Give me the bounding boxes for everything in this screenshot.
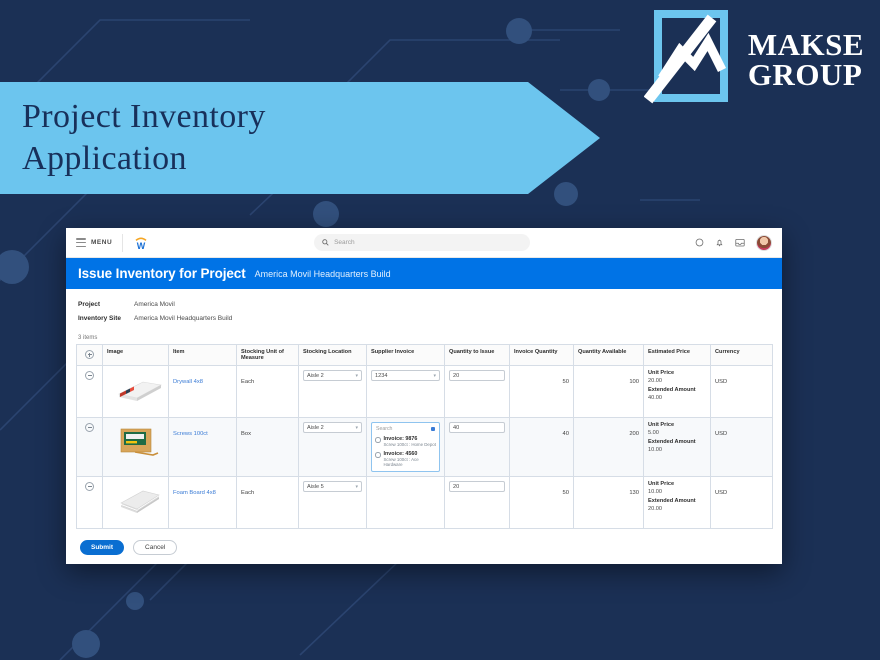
uom-value: Each (241, 379, 254, 385)
remove-row-icon[interactable] (85, 482, 94, 491)
stocking-location-select[interactable]: Aisle 5 ▾ (303, 481, 362, 492)
drywall-sheet-thumbnail (113, 372, 165, 406)
stocking-location-value: Aisle 2 (307, 425, 324, 431)
invoice-quantity-value: 50 (563, 379, 569, 385)
slide-title: Project Inventory Application (22, 96, 266, 180)
hamburger-menu-icon (76, 238, 86, 247)
extended-amount-label: Extended Amount (648, 498, 706, 504)
currency-value: USD (715, 431, 727, 437)
column-header-currency: Currency (711, 345, 773, 366)
column-header-item: Item (169, 345, 237, 366)
dropdown-option-description: Screw 100ct : Home Depot (384, 442, 436, 447)
dropdown-option[interactable]: Invoice: 4560 Screw 100ct : Ace Hardware (374, 449, 437, 469)
supplier-invoice-value: 1234 (375, 373, 387, 379)
cancel-button[interactable]: Cancel (133, 540, 177, 555)
cell-stocking-location: Aisle 2 ▾ (299, 366, 367, 418)
title-banner: Project Inventory Application (0, 82, 600, 194)
quantity-to-issue-input[interactable]: 40 (449, 422, 505, 433)
cell-stocking-location: Aisle 2 ▾ (299, 418, 367, 477)
search-placeholder: Search (334, 239, 355, 246)
workday-logo-icon[interactable]: W (133, 235, 149, 251)
unit-price-label: Unit Price (648, 481, 706, 487)
uom-value: Each (241, 490, 254, 496)
column-header-quantity-to-issue: Quantity to Issue (445, 345, 510, 366)
cell-estimated-price: Unit Price 10.00 Extended Amount 20.00 (644, 477, 711, 529)
row-remove-cell (77, 477, 103, 529)
notifications-bell-icon[interactable] (715, 238, 724, 247)
column-header-image: Image (103, 345, 169, 366)
item-link[interactable]: Foam Board 4x8 (173, 490, 216, 496)
page-title: Issue Inventory for Project (78, 266, 246, 281)
row-remove-cell (77, 418, 103, 477)
currency-value: USD (715, 490, 727, 496)
cell-invoice-quantity: 50 (510, 477, 574, 529)
field-label-project: Project (78, 301, 134, 308)
column-header-stocking-location: Stocking Location (299, 345, 367, 366)
cell-quantity-available: 200 (574, 418, 644, 477)
field-label-inventory-site: Inventory Site (78, 315, 134, 322)
logo-wordmark-line-2: GROUP (748, 60, 864, 90)
app-topbar: MENU W Search (66, 228, 782, 258)
cell-invoice-quantity: 50 (510, 366, 574, 418)
cell-uom: Box (237, 418, 299, 477)
cell-image (103, 418, 169, 477)
search-container: Search (149, 234, 695, 251)
supplier-invoice-dropdown[interactable]: Search Invoice: 9876 Screw 100ct : Home … (371, 422, 440, 472)
table-row: Screws 100ct Box Aisle 2 ▾ (77, 418, 773, 477)
foam-board-stack-thumbnail (113, 483, 165, 517)
cell-supplier-invoice[interactable] (367, 477, 445, 529)
logo-wordmark: MAKSE GROUP (748, 30, 864, 90)
cell-stocking-location: Aisle 5 ▾ (299, 477, 367, 529)
extended-amount-label: Extended Amount (648, 439, 706, 445)
search-input[interactable]: Search (314, 234, 530, 251)
radio-icon[interactable] (375, 437, 381, 443)
cell-quantity-available: 100 (574, 366, 644, 418)
extended-amount-value: 20.00 (648, 506, 706, 512)
topbar-icon-group (695, 235, 772, 251)
menu-button-label: MENU (91, 239, 112, 246)
dropdown-option[interactable]: Invoice: 9876 Screw 100ct : Home Depot (374, 434, 437, 449)
cell-item: Drywall 4x8 (169, 366, 237, 418)
quantity-to-issue-input[interactable]: 20 (449, 481, 505, 492)
slide-title-line-1: Project Inventory (22, 96, 266, 138)
currency-value: USD (715, 379, 727, 385)
page-subtitle: America Movil Headquarters Build (255, 269, 391, 279)
summary-fields: Project America Movil Inventory Site Ame… (66, 289, 782, 335)
unit-price-value: 20.00 (648, 378, 706, 384)
cell-uom: Each (237, 477, 299, 529)
cell-quantity-to-issue: 40 (445, 418, 510, 477)
item-link[interactable]: Drywall 4x8 (173, 379, 203, 385)
inbox-icon[interactable] (735, 238, 745, 247)
search-icon (322, 239, 329, 246)
stocking-location-select[interactable]: Aisle 2 ▾ (303, 422, 362, 433)
screws-box-thumbnail (113, 424, 165, 458)
cell-quantity-to-issue: 20 (445, 477, 510, 529)
field-value-project: America Movil (134, 301, 175, 308)
column-header-estimated-price: Estimated Price (644, 345, 711, 366)
add-row-icon[interactable] (85, 350, 94, 359)
quantity-to-issue-value: 20 (453, 484, 459, 490)
logo-wordmark-line-1: MAKSE (748, 30, 864, 60)
form-actions: Submit Cancel (66, 529, 782, 564)
table-row: Foam Board 4x8 Each Aisle 5 ▾ (77, 477, 773, 529)
page-header: Issue Inventory for Project America Movi… (66, 258, 782, 289)
chevron-down-icon: ▾ (355, 425, 358, 431)
quantity-to-issue-value: 20 (453, 373, 459, 379)
grid-header-row: Image Item Stocking Unit of Measure Stoc… (77, 345, 773, 366)
logo-chart-mark-icon (644, 8, 748, 108)
column-header-supplier-invoice: Supplier Invoice (367, 345, 445, 366)
remove-row-icon[interactable] (85, 371, 94, 380)
invoice-quantity-value: 50 (563, 490, 569, 496)
column-header-invoice-quantity: Invoice Quantity (510, 345, 574, 366)
chevron-down-icon: ▾ (355, 373, 358, 379)
chevron-down-icon: ▾ (355, 484, 358, 490)
supplier-invoice-select[interactable]: 1234 ▾ (371, 370, 440, 381)
unit-price-value: 5.00 (648, 430, 706, 436)
radio-icon[interactable] (375, 452, 381, 458)
remove-row-icon[interactable] (85, 423, 94, 432)
cell-uom: Each (237, 366, 299, 418)
field-value-inventory-site: America Movil Headquarters Build (134, 315, 232, 322)
cell-quantity-to-issue: 20 (445, 366, 510, 418)
cell-supplier-invoice: Search Invoice: 9876 Screw 100ct : Home … (367, 418, 445, 477)
extended-amount-label: Extended Amount (648, 387, 706, 393)
topbar-divider (122, 234, 123, 252)
slide-title-line-2: Application (22, 138, 266, 180)
unit-price-label: Unit Price (648, 370, 706, 376)
stocking-location-select[interactable]: Aisle 2 ▾ (303, 370, 362, 381)
quantity-available-value: 130 (629, 490, 639, 496)
cell-estimated-price: Unit Price 20.00 Extended Amount 40.00 (644, 366, 711, 418)
item-link[interactable]: Screws 100ct (173, 431, 208, 437)
dropdown-search-placeholder: Search (376, 426, 392, 432)
presentation-slide: Project Inventory Application MAKSE GROU… (0, 0, 880, 660)
quantity-available-value: 200 (629, 431, 639, 437)
column-header-quantity-available: Quantity Available (574, 345, 644, 366)
field-row-inventory-site: Inventory Site America Movil Headquarter… (78, 315, 770, 322)
cell-quantity-available: 130 (574, 477, 644, 529)
stocking-location-value: Aisle 5 (307, 484, 324, 490)
makse-group-logo: MAKSE GROUP (644, 6, 864, 110)
dropdown-option-description: Screw 100ct : Ace Hardware (384, 457, 437, 467)
cell-image (103, 366, 169, 418)
inventory-grid: Image Item Stocking Unit of Measure Stoc… (76, 344, 773, 529)
quantity-available-value: 100 (629, 379, 639, 385)
cell-item: Screws 100ct (169, 418, 237, 477)
stocking-location-value: Aisle 2 (307, 373, 324, 379)
svg-text:W: W (137, 241, 146, 251)
menu-button[interactable]: MENU (76, 238, 112, 247)
cell-currency: USD (711, 418, 773, 477)
inventory-grid-container: Image Item Stocking Unit of Measure Stoc… (66, 344, 782, 529)
quantity-to-issue-value: 40 (453, 425, 459, 431)
dropdown-toggle-icon (431, 427, 435, 431)
cell-currency: USD (711, 477, 773, 529)
profile-icon[interactable] (695, 238, 704, 247)
application-screenshot: MENU W Search (66, 228, 782, 564)
items-count-label: 3 items (66, 335, 782, 344)
uom-value: Box (241, 431, 251, 437)
field-row-project: Project America Movil (78, 301, 770, 308)
table-row: Drywall 4x8 Each Aisle 2 ▾ (77, 366, 773, 418)
quantity-to-issue-input[interactable]: 20 (449, 370, 505, 381)
cell-supplier-invoice: 1234 ▾ (367, 366, 445, 418)
add-row-header-cell (77, 345, 103, 366)
unit-price-label: Unit Price (648, 422, 706, 428)
cell-estimated-price: Unit Price 5.00 Extended Amount 10.00 (644, 418, 711, 477)
invoice-quantity-value: 40 (563, 431, 569, 437)
submit-button[interactable]: Submit (80, 540, 124, 555)
cell-item: Foam Board 4x8 (169, 477, 237, 529)
cell-invoice-quantity: 40 (510, 418, 574, 477)
cell-image (103, 477, 169, 529)
column-header-uom: Stocking Unit of Measure (237, 345, 299, 366)
extended-amount-value: 10.00 (648, 447, 706, 453)
user-avatar[interactable] (756, 235, 772, 251)
extended-amount-value: 40.00 (648, 395, 706, 401)
cell-currency: USD (711, 366, 773, 418)
dropdown-search-input[interactable]: Search (374, 425, 437, 434)
chevron-down-icon: ▾ (433, 373, 436, 379)
unit-price-value: 10.00 (648, 489, 706, 495)
row-remove-cell (77, 366, 103, 418)
